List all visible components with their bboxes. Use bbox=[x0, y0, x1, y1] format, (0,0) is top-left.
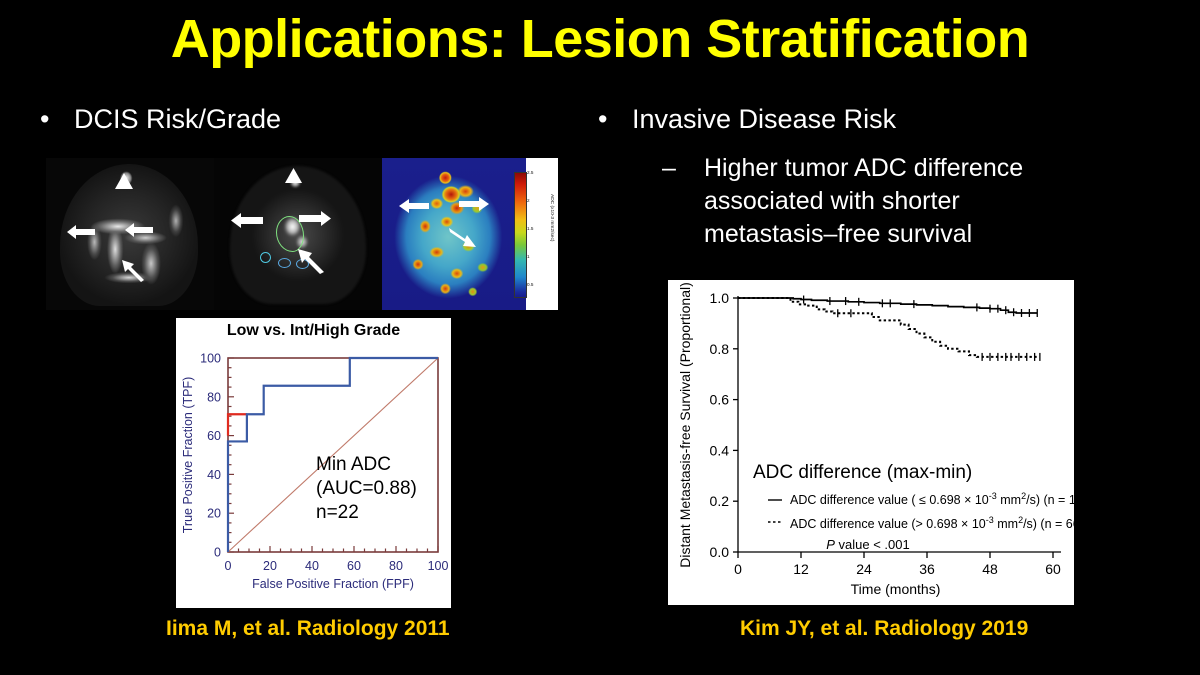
km-chart-panel: 0.00.20.40.60.81.001224364860Time (month… bbox=[668, 280, 1074, 605]
km-chart-svg: 0.00.20.40.60.81.001224364860Time (month… bbox=[668, 280, 1074, 605]
slide-root: Applications: Lesion Stratification •DCI… bbox=[0, 0, 1200, 675]
mri-image-strip: 2.5 2 1.5 1 0.5 ADC (x10-3 mm2/sec) bbox=[46, 158, 558, 310]
roi-outline-blue bbox=[278, 258, 291, 268]
svg-text:100: 100 bbox=[200, 352, 221, 366]
svg-text:ADC difference value (> 0.698: ADC difference value (> 0.698 × 10-3 mm2… bbox=[790, 515, 1074, 531]
left-citation: Iima M, et al. Radiology 2011 bbox=[166, 617, 450, 641]
svg-text:P value < .001: P value < .001 bbox=[826, 537, 909, 552]
svg-text:0: 0 bbox=[225, 559, 232, 573]
svg-text:80: 80 bbox=[389, 559, 403, 573]
adc-colorbar-tick: 2.5 bbox=[527, 170, 533, 175]
svg-text:60: 60 bbox=[347, 559, 361, 573]
arrow-icon bbox=[120, 258, 146, 282]
roi-outline-blue bbox=[260, 252, 271, 263]
page-title: Applications: Lesion Stratification bbox=[0, 8, 1200, 70]
adc-colorbar: 2.5 2 1.5 1 0.5 ADC (x10-3 mm2/sec) bbox=[514, 172, 552, 296]
svg-text:True Positive Fraction (TPF): True Positive Fraction (TPF) bbox=[181, 377, 195, 534]
mri-panel-adc-map: 2.5 2 1.5 1 0.5 ADC (x10-3 mm2/sec) bbox=[382, 158, 558, 310]
svg-text:Min ADC: Min ADC bbox=[316, 454, 391, 475]
adc-colorbar-tick: 2 bbox=[527, 198, 530, 203]
svg-text:0.4: 0.4 bbox=[710, 442, 730, 458]
subbullet-marker: – bbox=[662, 152, 676, 185]
left-bullet: •DCIS Risk/Grade bbox=[40, 104, 281, 135]
mri-panel-diffusion-weighted bbox=[214, 158, 382, 310]
roc-chart-svg: 020406080100020406080100False Positive F… bbox=[176, 344, 451, 606]
arrow-icon bbox=[298, 210, 332, 227]
svg-text:0.0: 0.0 bbox=[710, 544, 730, 560]
svg-text:Distant Metastasis-free Surviv: Distant Metastasis-free Survival (Propor… bbox=[677, 282, 693, 568]
svg-text:0.2: 0.2 bbox=[710, 493, 730, 509]
adc-colorbar-gradient bbox=[514, 172, 527, 298]
bullet-marker: • bbox=[40, 104, 74, 135]
svg-text:0.8: 0.8 bbox=[710, 341, 730, 357]
arrowhead-icon bbox=[114, 172, 134, 190]
svg-text:0.6: 0.6 bbox=[710, 392, 730, 408]
svg-text:20: 20 bbox=[207, 507, 221, 521]
arrow-icon bbox=[124, 222, 154, 238]
svg-text:20: 20 bbox=[263, 559, 277, 573]
svg-text:Time (months): Time (months) bbox=[851, 581, 941, 597]
arrow-icon bbox=[398, 198, 430, 214]
bullet-marker: • bbox=[598, 104, 632, 135]
svg-text:n=22: n=22 bbox=[316, 502, 359, 523]
roc-chart-title: Low vs. Int/High Grade bbox=[176, 322, 451, 340]
arrow-icon bbox=[448, 226, 478, 250]
adc-colorbar-label: ADC (x10-3 mm2/sec) bbox=[549, 194, 554, 241]
svg-text:60: 60 bbox=[1045, 561, 1061, 577]
svg-text:24: 24 bbox=[856, 561, 872, 577]
adc-colorbar-tick: 1.5 bbox=[527, 226, 533, 231]
arrow-icon bbox=[230, 212, 264, 229]
svg-text:ADC difference value ( ≤ 0.698: ADC difference value ( ≤ 0.698 × 10-3 mm… bbox=[790, 491, 1074, 507]
svg-text:60: 60 bbox=[207, 429, 221, 443]
svg-text:40: 40 bbox=[207, 468, 221, 482]
right-bullet-label: Invasive Disease Risk bbox=[632, 104, 896, 134]
right-subbullet: – Higher tumor ADC difference associated… bbox=[662, 152, 1132, 251]
arrow-icon bbox=[458, 196, 490, 212]
right-citation: Kim JY, et al. Radiology 2019 bbox=[740, 617, 1028, 641]
subbullet-line-1: Higher tumor ADC difference bbox=[704, 152, 1132, 185]
adc-colorbar-tick: 0.5 bbox=[527, 282, 533, 287]
svg-text:1.0: 1.0 bbox=[710, 290, 730, 306]
svg-text:40: 40 bbox=[305, 559, 319, 573]
svg-text:0: 0 bbox=[214, 546, 221, 560]
left-bullet-label: DCIS Risk/Grade bbox=[74, 104, 281, 134]
arrowhead-icon bbox=[284, 167, 303, 184]
svg-text:ADC difference (max-min): ADC difference (max-min) bbox=[753, 462, 972, 483]
mri-panel-contrast-enhanced bbox=[46, 158, 214, 310]
svg-text:0: 0 bbox=[734, 561, 742, 577]
svg-text:36: 36 bbox=[919, 561, 935, 577]
arrow-icon bbox=[66, 224, 96, 240]
svg-text:12: 12 bbox=[793, 561, 809, 577]
subbullet-line-2: associated with shorter bbox=[704, 185, 1132, 218]
svg-text:100: 100 bbox=[428, 559, 449, 573]
subbullet-line-3: metastasis–free survival bbox=[704, 218, 1132, 251]
arrow-icon bbox=[296, 246, 326, 274]
svg-text:False Positive Fraction (FPF): False Positive Fraction (FPF) bbox=[252, 577, 414, 591]
adc-colorbar-tick: 1 bbox=[527, 254, 530, 259]
roc-chart-panel: Low vs. Int/High Grade 02040608010002040… bbox=[176, 318, 451, 608]
svg-text:80: 80 bbox=[207, 390, 221, 404]
svg-text:(AUC=0.88): (AUC=0.88) bbox=[316, 478, 417, 499]
right-bullet: •Invasive Disease Risk bbox=[598, 104, 896, 135]
svg-text:48: 48 bbox=[982, 561, 998, 577]
